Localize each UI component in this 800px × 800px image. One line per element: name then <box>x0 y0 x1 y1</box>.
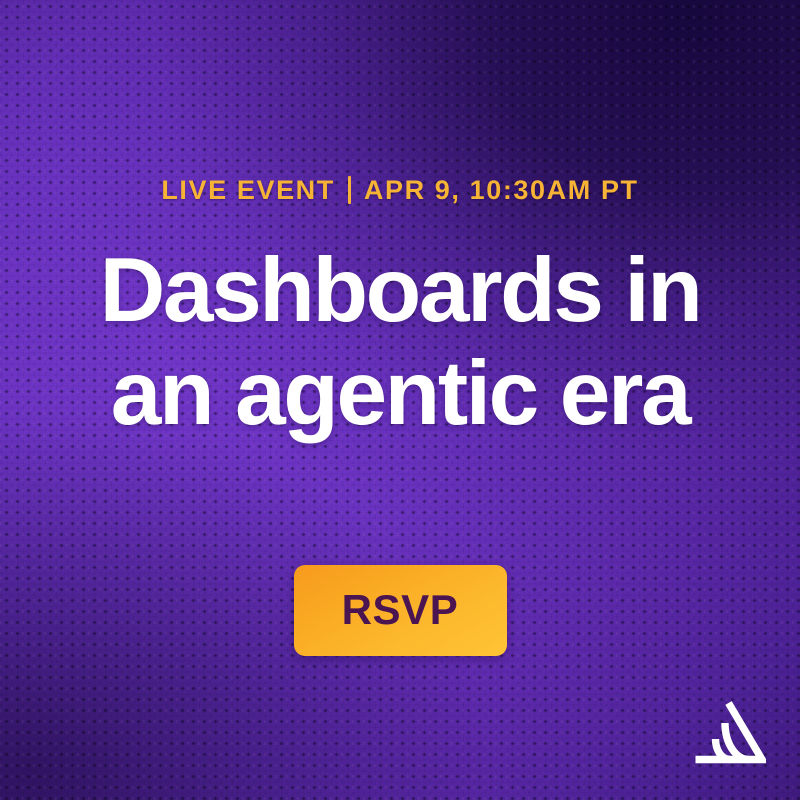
headline-line-1: Dashboards in <box>100 240 701 343</box>
promo-content: LIVE EVENT APR 9, 10:30AM PT Dashboards … <box>0 0 800 800</box>
cta-container: RSVP <box>294 565 507 656</box>
event-datetime-label: APR 9, 10:30AM PT <box>364 177 639 204</box>
eyebrow-divider <box>348 176 351 204</box>
event-eyebrow: LIVE EVENT APR 9, 10:30AM PT <box>161 176 638 204</box>
page-title: Dashboards in an agentic era <box>100 240 701 446</box>
rsvp-button[interactable]: RSVP <box>294 565 507 656</box>
headline-line-2: an agentic era <box>100 343 701 446</box>
promo-graphic: LIVE EVENT APR 9, 10:30AM PT Dashboards … <box>0 0 800 800</box>
event-type-label: LIVE EVENT <box>161 177 335 204</box>
